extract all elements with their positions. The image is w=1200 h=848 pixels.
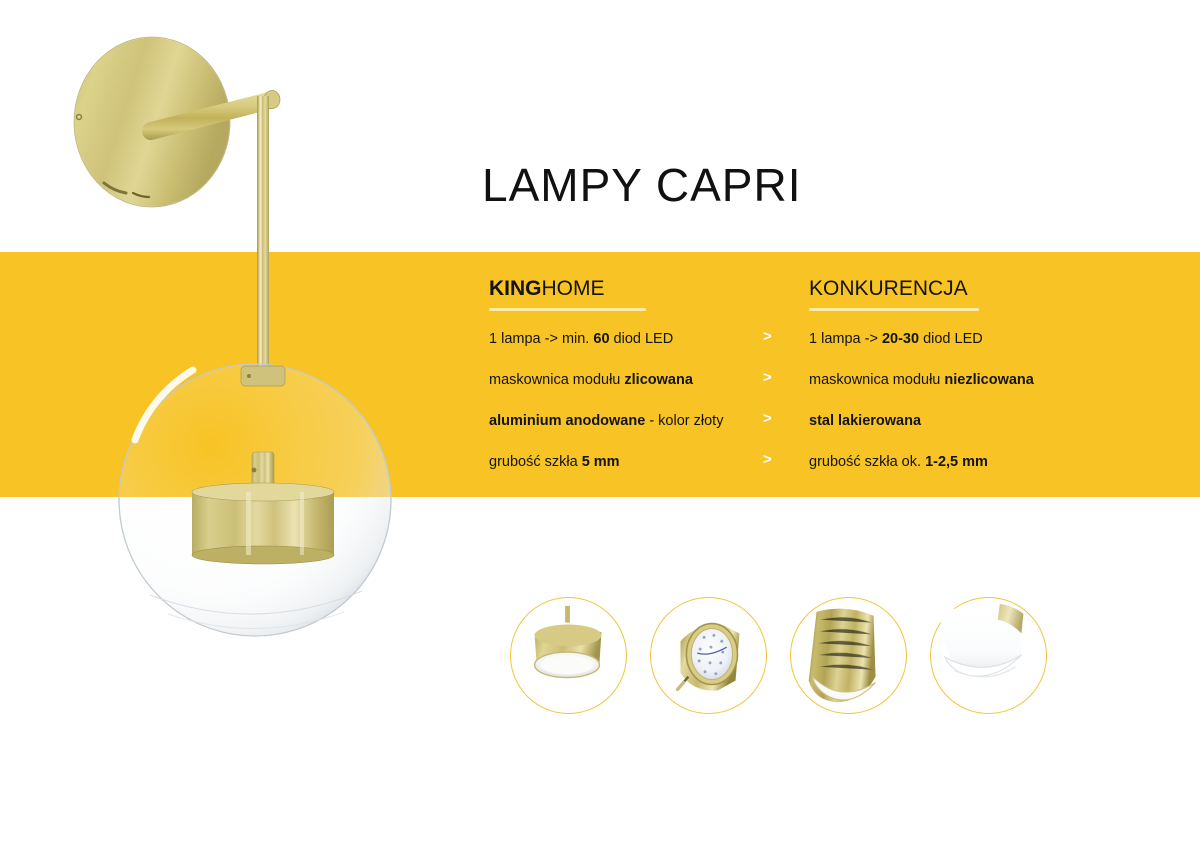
- row-text-pre: 1 lampa ->: [809, 331, 882, 347]
- clear-glass-edge-thumb: [930, 597, 1047, 714]
- row-text-pre: maskownica modułu: [489, 372, 624, 388]
- brushed-gold-edge-thumb: [790, 597, 907, 714]
- rod: [257, 96, 269, 384]
- row-separator-chevron-icon: >: [763, 328, 772, 345]
- row-text-pre: grubość szkła ok.: [809, 454, 925, 470]
- row-separator-chevron-icon: >: [763, 369, 772, 386]
- detail-thumbnail-strip: [0, 597, 1200, 715]
- heading-underline-right: [809, 308, 979, 311]
- feature-row: grubość szkła ok. 1-2,5 mm: [809, 454, 1074, 495]
- column-heading-konkurencja: KONKURENCJA: [809, 276, 1074, 302]
- feature-row: 1 lampa -> min. 60 diod LED: [489, 331, 754, 372]
- feature-row: maskownica modułu niezlicowana: [809, 372, 1074, 413]
- feature-rows-konkurencja: 1 lampa -> 20-30 diod LED maskownica mod…: [809, 331, 1074, 495]
- page-title: LAMPY CAPRI: [482, 158, 801, 212]
- led-module-diffuser-thumb: [510, 597, 627, 714]
- row-text-strong: 20-30: [882, 331, 919, 347]
- row-text-strong: 5 mm: [582, 454, 620, 470]
- feature-row: aluminium anodowane - kolor złoty: [489, 413, 754, 454]
- row-text-strong: 1-2,5 mm: [925, 454, 988, 470]
- poster-canvas: LAMPY CAPRI KINGHOME 1 lampa -> min. 60 …: [0, 0, 1200, 848]
- comparison-column-king-home: KINGHOME 1 lampa -> min. 60 diod LED mas…: [489, 276, 754, 495]
- feature-row: 1 lampa -> 20-30 diod LED: [809, 331, 1074, 372]
- heading-home: HOME: [542, 277, 605, 300]
- feature-row: grubość szkła 5 mm: [489, 454, 754, 495]
- row-text-post: diod LED: [610, 331, 674, 347]
- row-text-strong: stal lakierowana: [809, 413, 921, 429]
- feature-rows-king-home: 1 lampa -> min. 60 diod LED maskownica m…: [489, 331, 754, 495]
- row-text-strong: 60: [593, 331, 609, 347]
- row-text-strong: aluminium anodowane: [489, 413, 645, 429]
- heading-underline-left: [489, 308, 646, 311]
- heading-king: KING: [489, 277, 542, 300]
- gold-led-cylinder: [192, 483, 334, 564]
- led-board-diodes-thumb: [650, 597, 767, 714]
- globe-collar: [241, 366, 285, 386]
- row-text-strong: zlicowana: [624, 372, 693, 388]
- row-separator-chevron-icon: >: [763, 451, 772, 468]
- row-text-pre: maskownica modułu: [809, 372, 944, 388]
- row-text-strong: niezlicowana: [944, 372, 1033, 388]
- feature-row: stal lakierowana: [809, 413, 1074, 454]
- feature-row: maskownica modułu zlicowana: [489, 372, 754, 413]
- row-text-pre: 1 lampa -> min.: [489, 331, 593, 347]
- row-text-post: - kolor złoty: [645, 413, 723, 429]
- row-text-pre: grubość szkła: [489, 454, 582, 470]
- row-separator-chevron-icon: >: [763, 410, 772, 427]
- column-heading-king-home: KINGHOME: [489, 276, 754, 302]
- row-text-post: diod LED: [919, 331, 983, 347]
- heading-konkurencja: KONKURENCJA: [809, 277, 968, 300]
- comparison-column-konkurencja: KONKURENCJA 1 lampa -> 20-30 diod LED ma…: [809, 276, 1074, 495]
